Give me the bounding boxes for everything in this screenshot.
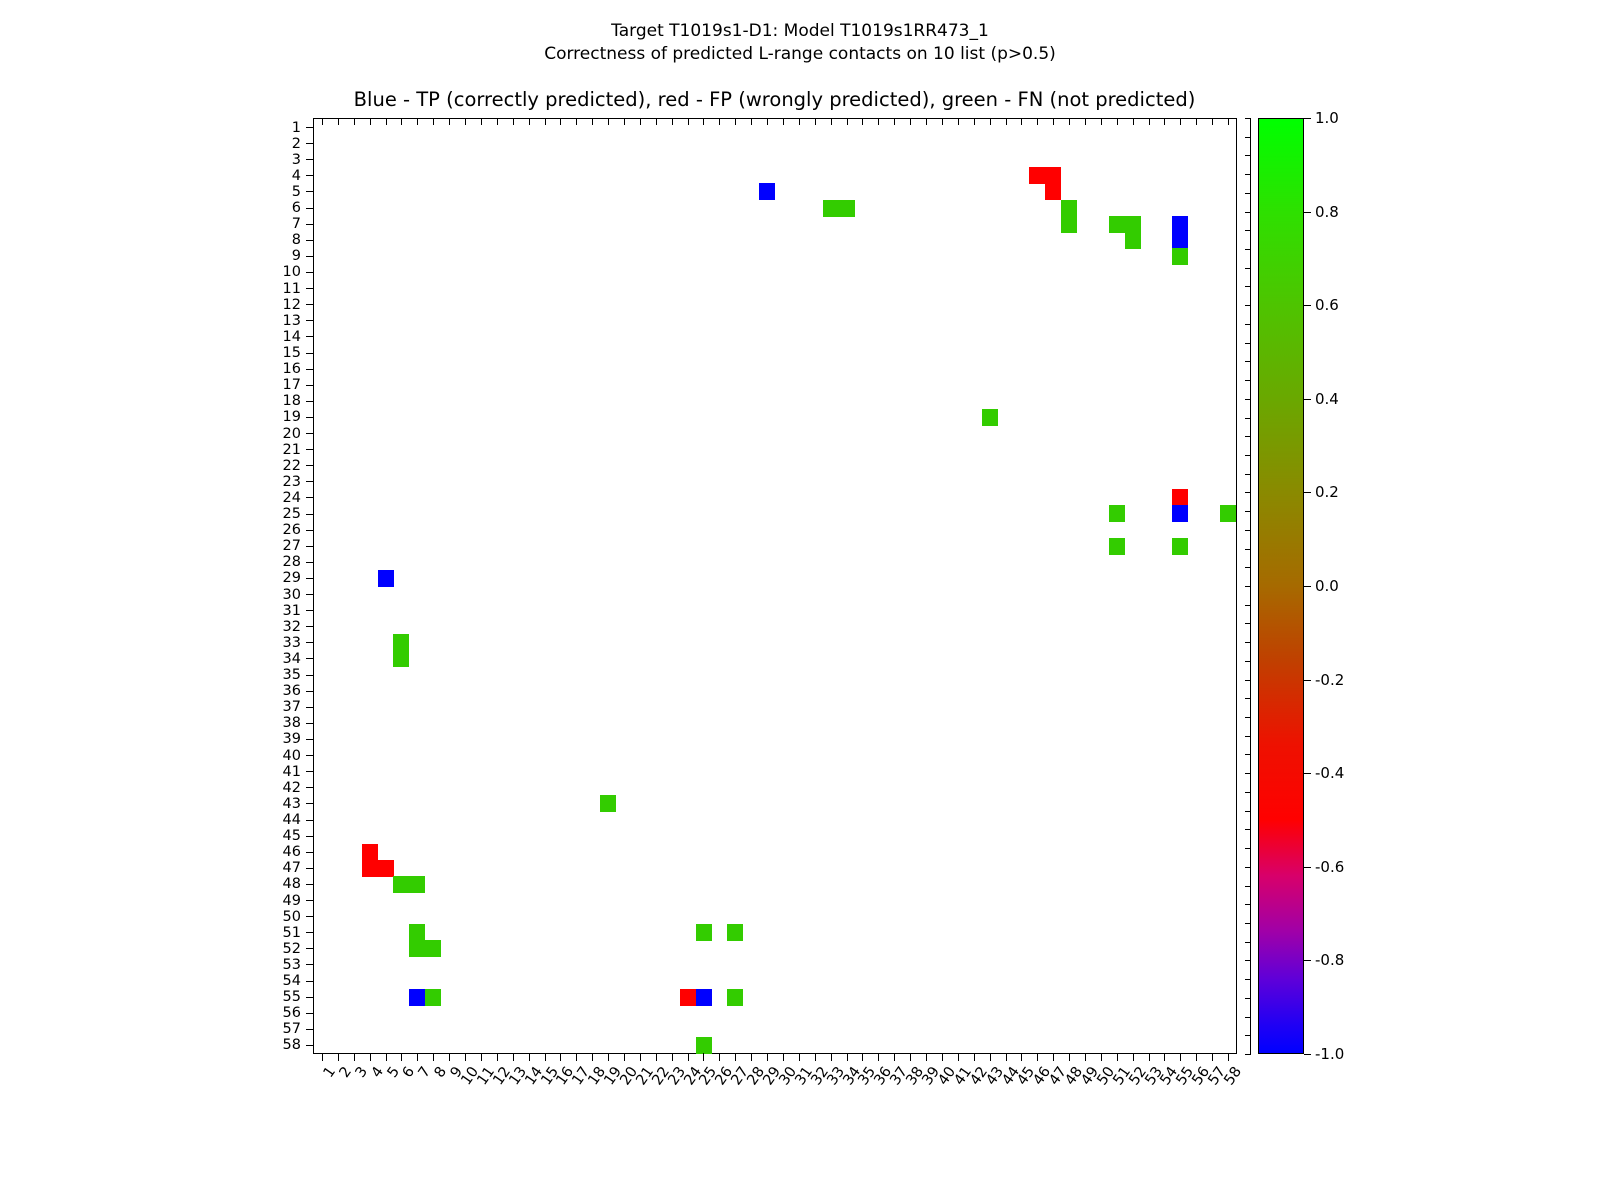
x-axis-tick xyxy=(481,1053,482,1061)
y-axis-tick: 22 xyxy=(306,465,314,466)
y-axis-tick: 11 xyxy=(306,288,314,289)
x-axis-tick-top xyxy=(417,119,418,125)
x-axis-tick-top xyxy=(767,119,768,125)
y-axis-tick-label: 30 xyxy=(283,587,301,603)
x-axis-tick-top xyxy=(990,119,991,125)
contact-cell xyxy=(409,924,425,941)
contact-cell xyxy=(409,876,425,893)
x-axis-tick-top xyxy=(1149,119,1150,125)
y-axis-tick: 6 xyxy=(306,208,314,209)
x-axis-tick xyxy=(322,1053,323,1061)
figure-title-line-1: Target T1019s1-D1: Model T1019s1RR473_1 xyxy=(0,20,1600,43)
y-axis-tick-label: 21 xyxy=(283,442,301,458)
colorbar-tick-label: -0.6 xyxy=(1315,858,1344,876)
colorbar-minor-tick xyxy=(1245,1035,1251,1036)
colorbar-tick-label: -0.4 xyxy=(1315,764,1344,782)
y-axis-tick: 32 xyxy=(306,626,314,627)
x-axis-tick-top xyxy=(1117,119,1118,125)
y-axis-tick: 43 xyxy=(306,803,314,804)
x-axis-tick-top xyxy=(688,119,689,125)
colorbar-minor-tick xyxy=(1245,605,1251,606)
contact-cell xyxy=(727,924,743,941)
contact-cell xyxy=(1172,232,1188,249)
colorbar-minor-tick xyxy=(1245,155,1251,156)
y-axis-tick: 56 xyxy=(306,1013,314,1014)
y-axis-tick-label: 6 xyxy=(292,200,301,216)
y-axis-tick-label: 32 xyxy=(283,619,301,635)
x-axis-tick xyxy=(815,1053,816,1061)
x-axis-tick xyxy=(608,1053,609,1061)
x-axis-tick xyxy=(688,1053,689,1061)
colorbar-tick xyxy=(1304,1054,1311,1055)
y-axis-tick-label: 54 xyxy=(283,973,301,989)
contact-cell xyxy=(378,860,394,877)
x-axis-tick-top xyxy=(1085,119,1086,125)
colorbar-minor-tick xyxy=(1245,1054,1251,1055)
x-axis-tick-label: 8 xyxy=(432,1064,450,1081)
x-axis-tick xyxy=(417,1053,418,1061)
x-axis-tick-top xyxy=(926,119,927,125)
x-axis-tick-top xyxy=(1037,119,1038,125)
x-axis-tick-label: 1 xyxy=(321,1064,339,1081)
colorbar-minor-tick xyxy=(1245,268,1251,269)
y-axis-tick: 16 xyxy=(306,369,314,370)
y-axis-tick-label: 41 xyxy=(283,764,301,780)
x-axis-tick xyxy=(799,1053,800,1061)
y-axis-tick: 8 xyxy=(306,240,314,241)
y-axis-tick: 4 xyxy=(306,175,314,176)
y-axis-tick: 10 xyxy=(306,272,314,273)
colorbar-tick-label: -0.8 xyxy=(1315,951,1344,969)
y-axis-tick-label: 20 xyxy=(283,426,301,442)
y-axis-tick-label: 58 xyxy=(283,1037,301,1053)
y-axis-tick-label: 52 xyxy=(283,941,301,957)
y-axis-tick: 30 xyxy=(306,594,314,595)
x-axis-tick-label: 7 xyxy=(416,1064,434,1081)
colorbar-minor-tick xyxy=(1245,511,1251,512)
y-axis-tick-label: 27 xyxy=(283,538,301,554)
colorbar-tick-label: 0.2 xyxy=(1315,483,1339,501)
colorbar-minor-tick xyxy=(1245,174,1251,175)
y-axis-tick-label: 3 xyxy=(292,152,301,168)
contact-cell xyxy=(600,795,616,812)
x-axis-tick-top xyxy=(322,119,323,125)
y-axis-tick-label: 10 xyxy=(283,264,301,280)
y-axis-tick-label: 22 xyxy=(283,458,301,474)
x-axis-tick-top xyxy=(1196,119,1197,125)
x-axis-tick xyxy=(592,1053,593,1061)
y-axis-tick-label: 28 xyxy=(283,554,301,570)
x-axis-tick-top xyxy=(386,119,387,125)
y-axis-tick-label: 11 xyxy=(283,281,301,297)
contact-cell xyxy=(425,940,441,957)
colorbar-minor-tick xyxy=(1245,680,1251,681)
y-axis-tick: 58 xyxy=(306,1045,314,1046)
colorbar-minor-tick xyxy=(1245,923,1251,924)
colorbar-minor-tick xyxy=(1245,305,1251,306)
contact-cell xyxy=(1045,183,1061,200)
colorbar-tick-label: -0.2 xyxy=(1315,671,1344,689)
x-axis-tick-top xyxy=(560,119,561,125)
colorbar-minor-tick xyxy=(1245,324,1251,325)
y-axis-tick: 45 xyxy=(306,836,314,837)
contact-cell-layer xyxy=(314,119,1236,1053)
x-axis-tick-top xyxy=(433,119,434,125)
y-axis-tick-label: 37 xyxy=(283,699,301,715)
colorbar-minor-tick xyxy=(1245,361,1251,362)
y-axis-tick: 7 xyxy=(306,224,314,225)
x-axis-tick-top xyxy=(831,119,832,125)
figure-title-block: Target T1019s1-D1: Model T1019s1RR473_1 … xyxy=(0,20,1600,66)
x-axis-tick-top xyxy=(1180,119,1181,125)
y-axis-tick: 3 xyxy=(306,159,314,160)
colorbar-minor-tick xyxy=(1245,942,1251,943)
colorbar-tick xyxy=(1304,118,1311,119)
y-axis-tick: 1 xyxy=(306,127,314,128)
y-axis-tick-label: 55 xyxy=(283,989,301,1005)
x-axis-tick xyxy=(640,1053,641,1061)
colorbar-tick-label: 0.0 xyxy=(1315,577,1339,595)
x-axis-tick xyxy=(878,1053,879,1061)
x-axis-tick-top xyxy=(942,119,943,125)
x-axis-tick xyxy=(1085,1053,1086,1061)
colorbar-minor-tick xyxy=(1245,773,1251,774)
colorbar-tick-label: 1.0 xyxy=(1315,109,1339,127)
y-axis-tick-label: 19 xyxy=(283,409,301,425)
x-axis-tick-top xyxy=(878,119,879,125)
x-axis-tick-label: 4 xyxy=(368,1064,386,1081)
colorbar-tick-label: 0.6 xyxy=(1315,296,1339,314)
y-axis-tick-label: 53 xyxy=(283,957,301,973)
contact-cell xyxy=(1125,216,1141,233)
x-axis-tick-top xyxy=(751,119,752,125)
x-axis-tick-top xyxy=(640,119,641,125)
y-axis-tick-label: 29 xyxy=(283,570,301,586)
y-axis-tick-label: 34 xyxy=(283,651,301,667)
figure-title-line-2: Correctness of predicted L-range contact… xyxy=(0,43,1600,66)
contact-cell xyxy=(378,570,394,587)
y-axis-tick-label: 1 xyxy=(292,120,301,136)
x-axis-tick xyxy=(1069,1053,1070,1061)
colorbar-minor-tick xyxy=(1245,623,1251,624)
x-axis-tick xyxy=(974,1053,975,1061)
y-axis-tick: 53 xyxy=(306,964,314,965)
x-axis-tick-label: 6 xyxy=(400,1064,418,1081)
axes-legend-caption: Blue - TP (correctly predicted), red - F… xyxy=(313,88,1236,111)
x-axis-tick xyxy=(1037,1053,1038,1061)
x-axis-tick-top xyxy=(465,119,466,125)
y-axis-tick: 17 xyxy=(306,385,314,386)
y-axis-tick-label: 50 xyxy=(283,909,301,925)
colorbar-tick xyxy=(1304,773,1311,774)
contact-cell xyxy=(1109,216,1125,233)
y-axis-tick-label: 23 xyxy=(283,474,301,490)
y-axis-tick-label: 31 xyxy=(283,603,301,619)
y-axis-tick: 47 xyxy=(306,868,314,869)
colorbar-minor-tick xyxy=(1245,811,1251,812)
colorbar-minor-tick xyxy=(1245,193,1251,194)
colorbar-minor-tick xyxy=(1245,343,1251,344)
x-axis-tick-top xyxy=(1053,119,1054,125)
y-axis-tick-label: 51 xyxy=(283,925,301,941)
x-axis-tick-top xyxy=(401,119,402,125)
x-axis-tick xyxy=(354,1053,355,1061)
contact-cell xyxy=(393,650,409,667)
x-axis-tick xyxy=(831,1053,832,1061)
y-axis-tick: 33 xyxy=(306,642,314,643)
y-axis-tick: 25 xyxy=(306,514,314,515)
colorbar-tick xyxy=(1304,399,1311,400)
contact-cell xyxy=(1172,248,1188,265)
colorbar-minor-tick xyxy=(1245,717,1251,718)
y-axis-tick: 20 xyxy=(306,433,314,434)
y-axis-tick-label: 7 xyxy=(292,216,301,232)
x-axis-tick-top xyxy=(354,119,355,125)
contact-map-plot-area: 1234567891011121314151617181920212223242… xyxy=(313,118,1237,1054)
y-axis-tick: 39 xyxy=(306,739,314,740)
y-axis-tick: 26 xyxy=(306,530,314,531)
contact-cell xyxy=(1125,232,1141,249)
colorbar-minor-tick xyxy=(1245,586,1251,587)
x-axis-tick xyxy=(386,1053,387,1061)
x-axis-tick xyxy=(1006,1053,1007,1061)
colorbar-tick xyxy=(1304,680,1311,681)
colorbar-minor-tick xyxy=(1245,286,1251,287)
y-axis-tick-label: 48 xyxy=(283,876,301,892)
y-axis-tick: 24 xyxy=(306,497,314,498)
y-axis-tick: 49 xyxy=(306,900,314,901)
y-axis-tick-label: 26 xyxy=(283,522,301,538)
x-axis-tick-top xyxy=(1021,119,1022,125)
colorbar-minor-tick xyxy=(1245,249,1251,250)
x-axis-tick-top xyxy=(1133,119,1134,125)
y-axis-tick-label: 44 xyxy=(283,812,301,828)
x-axis-tick xyxy=(1101,1053,1102,1061)
y-axis-tick: 31 xyxy=(306,610,314,611)
contact-cell xyxy=(1045,167,1061,184)
x-axis-tick-top xyxy=(608,119,609,125)
y-axis-tick: 12 xyxy=(306,304,314,305)
y-axis-tick: 40 xyxy=(306,755,314,756)
colorbar-tick-label: -1.0 xyxy=(1315,1045,1344,1063)
x-axis-tick xyxy=(560,1053,561,1061)
contact-cell xyxy=(393,876,409,893)
y-axis-tick: 14 xyxy=(306,336,314,337)
x-axis-tick-top xyxy=(703,119,704,125)
x-axis-tick-top xyxy=(735,119,736,125)
x-axis-tick-top xyxy=(1006,119,1007,125)
x-axis-tick xyxy=(767,1053,768,1061)
y-axis-tick-label: 35 xyxy=(283,667,301,683)
contact-cell xyxy=(409,989,425,1006)
y-axis-tick: 34 xyxy=(306,658,314,659)
y-axis-tick-label: 24 xyxy=(283,490,301,506)
contact-cell xyxy=(1109,505,1125,522)
contact-cell xyxy=(1172,505,1188,522)
colorbar: 1.00.80.60.40.20.0-0.2-0.4-0.6-0.8-1.0 xyxy=(1258,118,1304,1054)
y-axis-tick-label: 25 xyxy=(283,506,301,522)
colorbar-minor-tick xyxy=(1245,474,1251,475)
y-axis-tick: 37 xyxy=(306,707,314,708)
colorbar-tick xyxy=(1304,867,1311,868)
contact-cell xyxy=(409,940,425,957)
colorbar-gradient xyxy=(1258,118,1304,1054)
y-axis-tick-label: 4 xyxy=(292,168,301,184)
contact-cell xyxy=(982,409,998,426)
x-axis-tick xyxy=(576,1053,577,1061)
y-axis-tick-label: 46 xyxy=(283,844,301,860)
colorbar-minor-tick xyxy=(1245,736,1251,737)
y-axis-tick: 54 xyxy=(306,981,314,982)
y-axis-tick-label: 56 xyxy=(283,1005,301,1021)
y-axis-tick: 36 xyxy=(306,691,314,692)
x-axis-tick xyxy=(783,1053,784,1061)
x-axis-tick-top xyxy=(974,119,975,125)
y-axis-tick-label: 39 xyxy=(283,731,301,747)
contact-cell xyxy=(362,860,378,877)
y-axis-tick: 27 xyxy=(306,546,314,547)
x-axis-tick xyxy=(958,1053,959,1061)
x-axis-tick-label: 3 xyxy=(352,1064,370,1081)
x-axis-tick-top xyxy=(656,119,657,125)
y-axis-tick-label: 12 xyxy=(283,297,301,313)
colorbar-minor-tick xyxy=(1245,698,1251,699)
x-axis-tick xyxy=(847,1053,848,1061)
y-axis-tick-label: 16 xyxy=(283,361,301,377)
colorbar-minor-tick xyxy=(1245,230,1251,231)
colorbar-tick xyxy=(1304,960,1311,961)
contact-cell xyxy=(393,634,409,651)
y-axis-tick-label: 17 xyxy=(283,377,301,393)
x-axis-tick xyxy=(338,1053,339,1061)
y-axis-tick: 13 xyxy=(306,320,314,321)
x-axis-tick-top xyxy=(783,119,784,125)
y-axis-tick-label: 47 xyxy=(283,860,301,876)
colorbar-tick xyxy=(1304,212,1311,213)
x-axis-tick xyxy=(926,1053,927,1061)
x-axis-tick-top xyxy=(719,119,720,125)
x-axis-tick-top xyxy=(672,119,673,125)
y-axis-tick-label: 42 xyxy=(283,780,301,796)
y-axis-tick: 41 xyxy=(306,771,314,772)
y-axis-tick: 35 xyxy=(306,675,314,676)
y-axis-tick: 5 xyxy=(306,191,314,192)
y-axis-tick: 2 xyxy=(306,143,314,144)
x-axis-tick xyxy=(1164,1053,1165,1061)
contact-cell xyxy=(696,1037,712,1054)
colorbar-minor-tick xyxy=(1245,418,1251,419)
y-axis-tick: 50 xyxy=(306,916,314,917)
y-axis-tick-label: 14 xyxy=(283,329,301,345)
y-axis-tick-label: 8 xyxy=(292,232,301,248)
y-axis-tick: 42 xyxy=(306,787,314,788)
colorbar-minor-tick xyxy=(1245,567,1251,568)
x-axis-tick-top xyxy=(449,119,450,125)
colorbar-minor-tick xyxy=(1245,661,1251,662)
y-axis-tick-label: 43 xyxy=(283,796,301,812)
x-axis-tick xyxy=(513,1053,514,1061)
contact-cell xyxy=(823,200,839,217)
x-axis-tick xyxy=(1021,1053,1022,1061)
colorbar-minor-tick xyxy=(1245,549,1251,550)
y-axis-tick: 21 xyxy=(306,449,314,450)
contact-cell xyxy=(1109,538,1125,555)
contact-cell xyxy=(425,989,441,1006)
x-axis-tick-top xyxy=(529,119,530,125)
colorbar-tick xyxy=(1304,586,1311,587)
contact-cell xyxy=(1172,216,1188,233)
colorbar-minor-tick xyxy=(1245,792,1251,793)
y-axis-tick-label: 33 xyxy=(283,635,301,651)
contact-cell xyxy=(1029,167,1045,184)
x-axis-tick-top xyxy=(894,119,895,125)
x-axis-tick xyxy=(894,1053,895,1061)
y-axis-tick-label: 45 xyxy=(283,828,301,844)
y-axis-tick-label: 9 xyxy=(292,248,301,264)
colorbar-minor-tick xyxy=(1245,998,1251,999)
x-axis-tick xyxy=(545,1053,546,1061)
contact-cell xyxy=(1220,505,1236,522)
x-axis-tick-top xyxy=(592,119,593,125)
y-axis-tick: 57 xyxy=(306,1029,314,1030)
x-axis-tick-top xyxy=(862,119,863,125)
y-axis-tick: 46 xyxy=(306,852,314,853)
x-axis-tick xyxy=(862,1053,863,1061)
y-axis-tick-label: 2 xyxy=(292,136,301,152)
x-axis-tick xyxy=(1053,1053,1054,1061)
colorbar-minor-tick xyxy=(1245,848,1251,849)
x-axis-tick xyxy=(942,1053,943,1061)
x-axis-tick xyxy=(1180,1053,1181,1061)
x-axis-tick xyxy=(703,1053,704,1061)
x-axis-tick-top xyxy=(624,119,625,125)
x-axis-tick-top xyxy=(815,119,816,125)
y-axis-tick: 38 xyxy=(306,723,314,724)
y-axis-tick-label: 13 xyxy=(283,313,301,329)
colorbar-minor-tick xyxy=(1245,754,1251,755)
x-axis-tick-top xyxy=(1069,119,1070,125)
x-axis-tick xyxy=(465,1053,466,1061)
x-axis-tick xyxy=(672,1053,673,1061)
y-axis-tick-label: 18 xyxy=(283,393,301,409)
colorbar-minor-tick xyxy=(1245,455,1251,456)
y-axis-tick-label: 49 xyxy=(283,893,301,909)
colorbar-minor-tick xyxy=(1245,530,1251,531)
x-axis-tick xyxy=(370,1053,371,1061)
contact-cell xyxy=(696,989,712,1006)
x-axis-tick-label: 2 xyxy=(337,1064,355,1081)
y-axis-tick: 29 xyxy=(306,578,314,579)
y-axis-tick: 55 xyxy=(306,997,314,998)
x-axis-tick-top xyxy=(370,119,371,125)
contact-cell xyxy=(680,989,696,1006)
colorbar-minor-tick xyxy=(1245,960,1251,961)
y-axis-tick-label: 5 xyxy=(292,184,301,200)
contact-cell xyxy=(1061,216,1077,233)
colorbar-minor-tick xyxy=(1245,492,1251,493)
colorbar-minor-tick xyxy=(1245,380,1251,381)
x-axis-tick xyxy=(910,1053,911,1061)
x-axis-tick xyxy=(1133,1053,1134,1061)
y-axis-tick-label: 15 xyxy=(283,345,301,361)
x-axis-tick xyxy=(751,1053,752,1061)
x-axis-tick xyxy=(1117,1053,1118,1061)
x-axis-tick-top xyxy=(1212,119,1213,125)
contact-cell xyxy=(1172,489,1188,506)
colorbar-minor-tick xyxy=(1245,118,1251,119)
contact-cell xyxy=(1172,538,1188,555)
colorbar-tick xyxy=(1304,492,1311,493)
